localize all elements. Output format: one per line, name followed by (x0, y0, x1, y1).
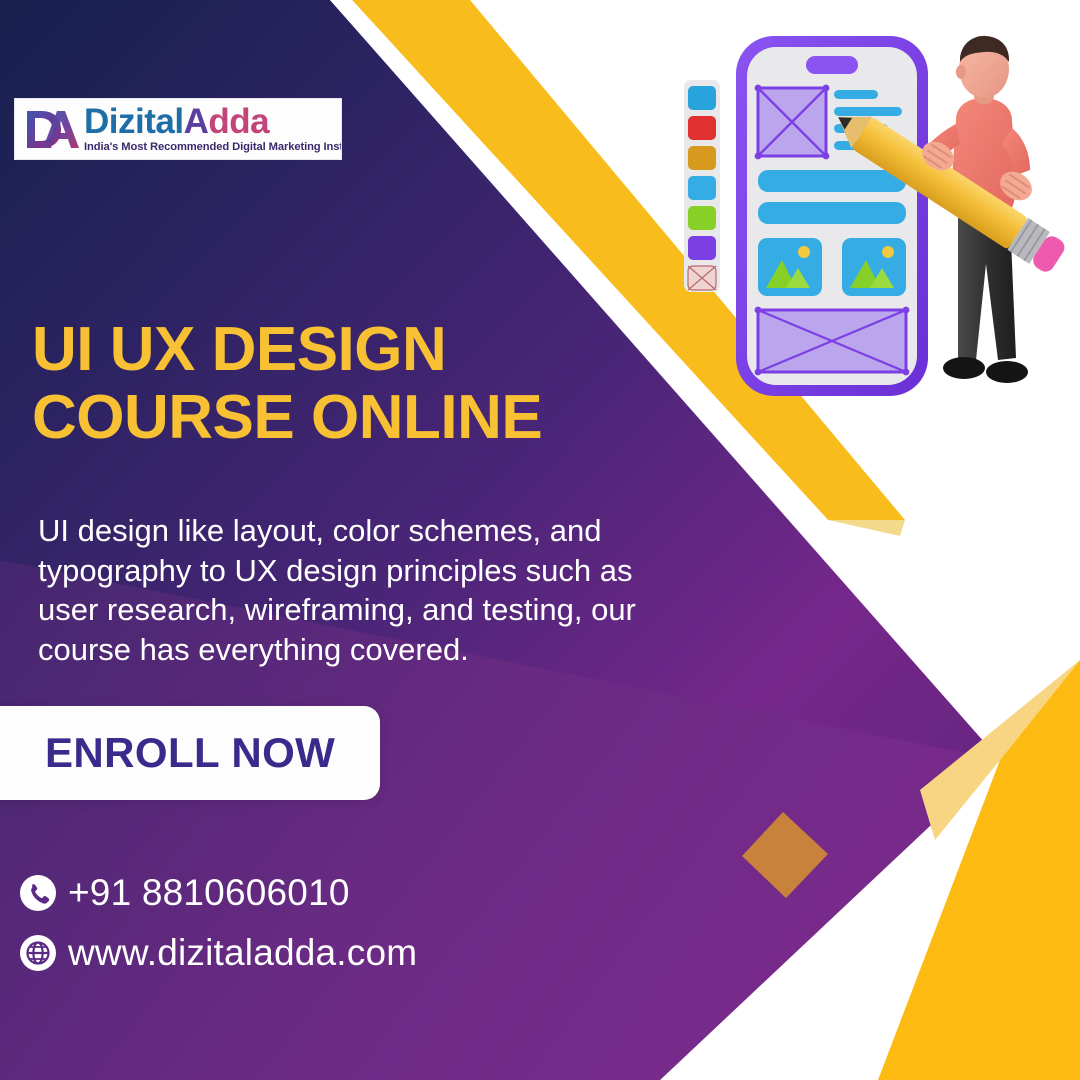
phone-icon (18, 873, 58, 913)
contact-phone-row[interactable]: +91 8810606010 (18, 872, 638, 914)
shoe-left (943, 357, 985, 379)
enroll-now-label: ENROLL NOW (45, 729, 335, 777)
phone-number: +91 8810606010 (68, 872, 350, 914)
wireframe-bar-2 (758, 202, 906, 224)
brand-logo[interactable]: DizitalAdda India's Most Recommended Dig… (14, 98, 342, 160)
headline-line-1: UI UX DESIGN (32, 315, 446, 384)
globe-icon (18, 933, 58, 973)
brand-word-dizital: Dizital (84, 102, 184, 141)
enroll-now-button[interactable]: ENROLL NOW (0, 706, 380, 800)
shoe-right (986, 361, 1028, 383)
poster-canvas: DizitalAdda India's Most Recommended Dig… (0, 0, 1080, 1080)
wireframe-bar-1 (758, 170, 906, 192)
color-palette-strip (684, 80, 720, 292)
brand-wordmark: DizitalAdda (84, 104, 342, 139)
contact-block: +91 8810606010 www.dizitaladda.com (18, 872, 638, 992)
headline-line-2: COURSE ONLINE (32, 384, 672, 452)
phone-mockup (736, 36, 928, 396)
brand-word-a: A (184, 102, 209, 141)
website-url: www.dizitaladda.com (68, 932, 417, 974)
wireframe-footer-placeholder (755, 307, 910, 376)
brand-word-dda: dda (208, 102, 269, 141)
contact-website-row[interactable]: www.dizitaladda.com (18, 932, 638, 974)
hero-illustration (680, 28, 1080, 430)
description-text: UI design like layout, color schemes, an… (38, 511, 678, 670)
page-title: UI UX DESIGN COURSE ONLINE (32, 316, 672, 451)
wireframe-image-card-right (842, 238, 906, 296)
wireframe-image-card-left (758, 238, 822, 296)
brand-tagline: India's Most Recommended Digital Marketi… (84, 142, 342, 153)
da-monogram-icon (21, 104, 83, 154)
wireframe-image-placeholder (755, 85, 830, 160)
